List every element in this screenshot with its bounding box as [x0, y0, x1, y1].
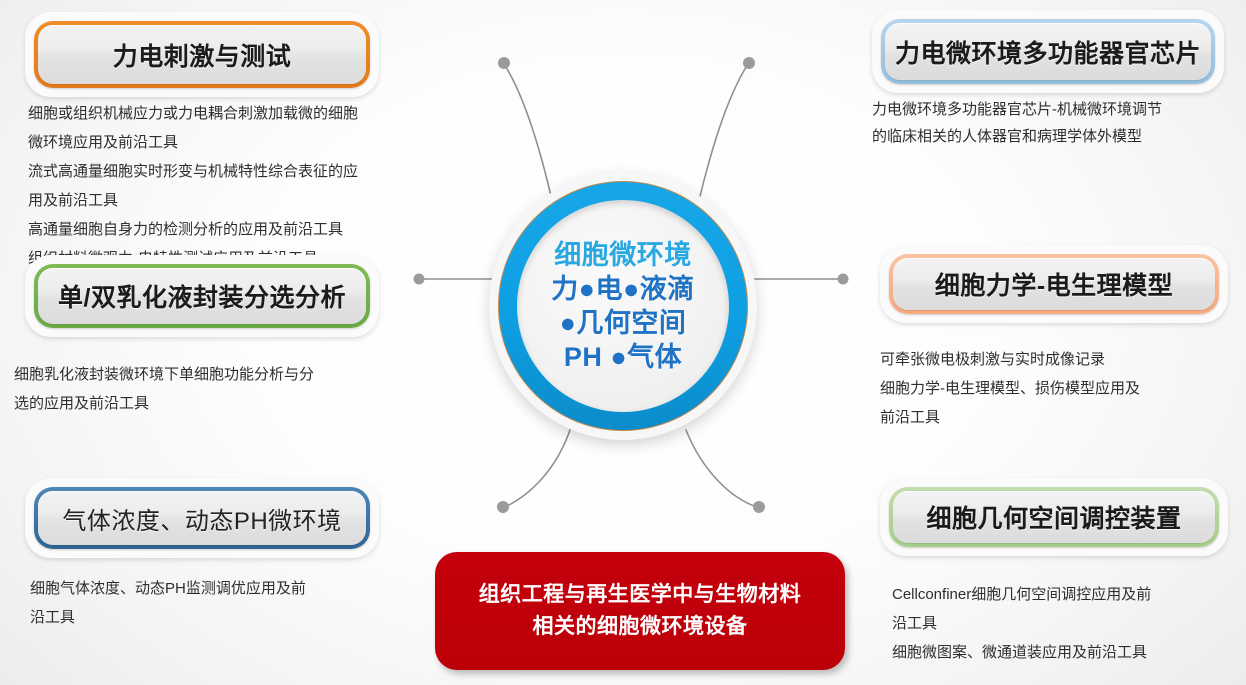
title-label: 力电刺激与测试 [113, 37, 292, 73]
callout-text: 组织工程与再生医学中与生物材料 相关的细胞微环境设备 [479, 579, 802, 643]
connector-dot-left [414, 274, 425, 285]
hub-line-2: 力●电●液滴 [551, 272, 695, 306]
title-label: 气体浓度、动态PH微环境 [62, 501, 341, 536]
title-box-border: 力电微环境多功能器官芯片 [881, 19, 1215, 84]
title-label: 细胞几何空间调控装置 [926, 499, 1181, 535]
body-text-organ-chip: 力电微环境多功能器官芯片-机械微环境调节 的临床相关的人体器官和病理学体外模型 [872, 96, 1244, 150]
connector-dot-right [838, 274, 849, 285]
connector-dot-bottom-left [497, 501, 509, 513]
title-box-cell-geometry-control[interactable]: 细胞几何空间调控装置 [880, 478, 1228, 556]
body-text-emulsion-encapsulation-sorting: 细胞乳化液封装微环境下单细胞功能分析与分 选的应用及前沿工具 [14, 360, 394, 418]
hub-text: 细胞微环境 力●电●液滴 ●几何空间 PH ●气体 [551, 238, 695, 374]
title-box-border: 细胞几何空间调控装置 [889, 487, 1219, 547]
title-box-inner: 单/双乳化液封装分选分析 [38, 268, 366, 324]
title-box-border: 力电刺激与测试 [34, 21, 370, 88]
title-box-organ-chip[interactable]: 力电微环境多功能器官芯片 [872, 10, 1224, 93]
title-box-cell-mechanics-electrophysiology[interactable]: 细胞力学-电生理模型 [880, 245, 1228, 323]
title-box-inner: 细胞力学-电生理模型 [893, 258, 1215, 310]
body-text-cell-geometry-control: Cellconfiner细胞几何空间调控应用及前 沿工具 细胞微图案、微通道装应… [892, 580, 1246, 667]
title-label: 细胞力学-电生理模型 [935, 266, 1173, 302]
title-box-inner: 细胞几何空间调控装置 [893, 491, 1215, 543]
connector-dot-top-left [498, 57, 510, 69]
diagram-canvas: 力电刺激与测试 细胞或组织机械应力或力电耦合刺激加载微的细胞 微环境应用及前沿工… [0, 0, 1246, 685]
title-box-inner: 力电刺激与测试 [38, 25, 366, 84]
title-box-border: 单/双乳化液封装分选分析 [34, 264, 370, 328]
title-label: 力电微环境多功能器官芯片 [895, 34, 1201, 70]
hub-line-1: 细胞微环境 [551, 238, 695, 272]
connector-dot-top-right [743, 57, 755, 69]
title-box-inner: 力电微环境多功能器官芯片 [885, 23, 1211, 80]
title-box-border: 气体浓度、动态PH微环境 [34, 487, 370, 549]
hub-line-4: PH ●气体 [551, 340, 695, 374]
body-text-cell-mechanics-electrophysiology: 可牵张微电极刺激与实时成像记录 细胞力学-电生理模型、损伤模型应用及 前沿工具 [880, 345, 1246, 432]
connector-bottom-right [686, 430, 757, 507]
connector-dot-bottom-right [753, 501, 765, 513]
title-label: 单/双乳化液封装分选分析 [58, 278, 346, 314]
hub-core: 细胞微环境 力●电●液滴 ●几何空间 PH ●气体 [517, 200, 729, 412]
title-box-inner: 气体浓度、动态PH微环境 [38, 491, 366, 545]
title-box-electro-mechanical-stimulation[interactable]: 力电刺激与测试 [25, 12, 379, 97]
callout-tissue-engineering[interactable]: 组织工程与再生医学中与生物材料 相关的细胞微环境设备 [435, 552, 845, 670]
hub-line-3: ●几何空间 [551, 306, 695, 340]
title-box-border: 细胞力学-电生理模型 [889, 254, 1219, 314]
center-hub: 细胞微环境 力●电●液滴 ●几何空间 PH ●气体 [489, 172, 757, 440]
title-box-gas-ph-microenvironment[interactable]: 气体浓度、动态PH微环境 [25, 478, 379, 558]
body-text-gas-ph-microenvironment: 细胞气体浓度、动态PH监测调优应用及前 沿工具 [30, 574, 400, 632]
title-box-emulsion-encapsulation-sorting[interactable]: 单/双乳化液封装分选分析 [25, 255, 379, 337]
connector-bottom-left [505, 430, 570, 507]
body-text-electro-mechanical-stimulation: 细胞或组织机械应力或力电耦合刺激加载微的细胞 微环境应用及前沿工具 流式高通量细… [28, 99, 394, 273]
